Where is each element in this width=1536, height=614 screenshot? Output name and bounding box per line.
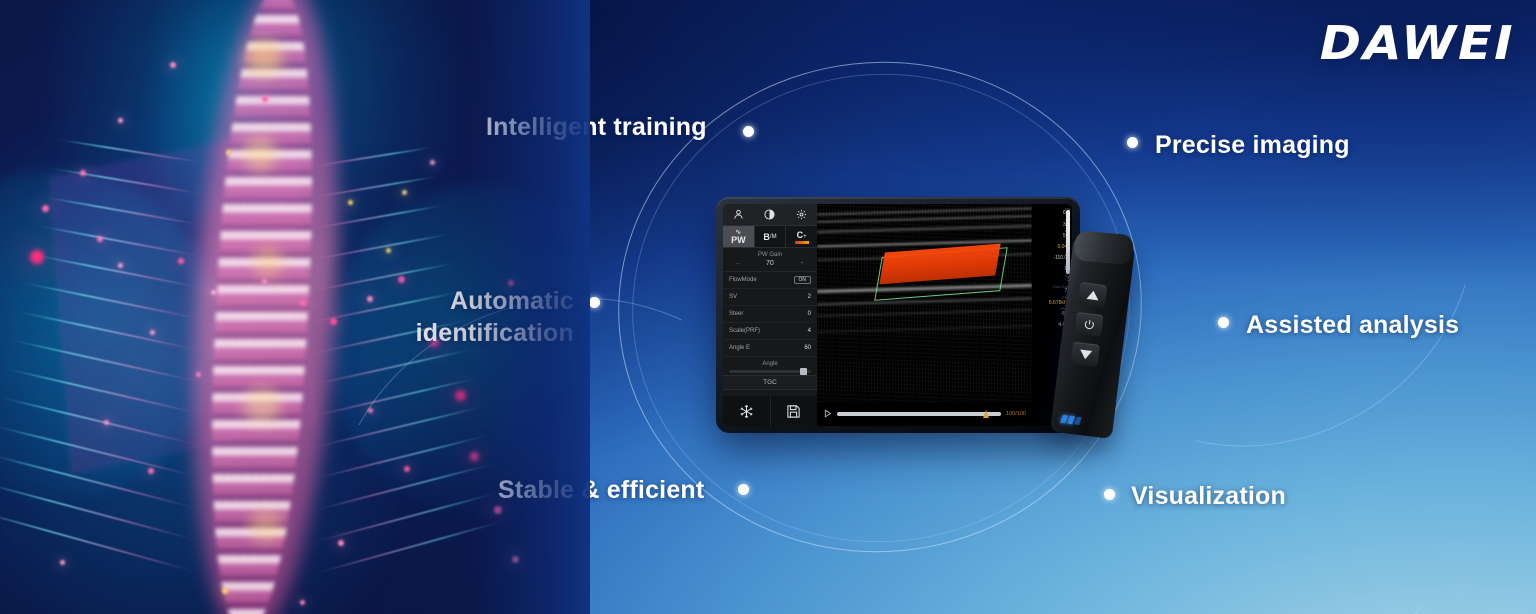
param-label: Scale(PRF) (729, 328, 760, 334)
param-value: 2 (808, 294, 811, 300)
illustration-edge-fade (0, 0, 590, 614)
measurement-row: MI0.045 (1034, 240, 1070, 250)
param-value: 4 (808, 328, 811, 334)
feature-dot-intelligent-training (743, 126, 754, 137)
gear-icon[interactable] (796, 209, 807, 220)
param-label: Steer (729, 311, 743, 317)
panel-action-bar (723, 396, 817, 426)
feature-dot-automatic-identification (589, 297, 600, 308)
measurement-row: Vel-110.08 (1034, 252, 1070, 262)
angle-slider-label: Angle (729, 361, 811, 367)
param-label: FlowMode (729, 277, 757, 283)
ultrasound-image (817, 204, 1032, 402)
frame-counter: 100/100 (1006, 411, 1026, 417)
measurement-row: Dop Gain70 (1034, 285, 1070, 295)
feature-dot-stable-efficient (738, 484, 749, 495)
gain-minus-button[interactable]: – (736, 261, 739, 267)
mode-label-plus: + (803, 234, 807, 240)
angle-slider-knob[interactable] (800, 368, 807, 375)
param-row-scale-prf[interactable]: Scale(PRF) 4 (723, 323, 817, 340)
panel-toolbar (723, 204, 817, 226)
measurement-row: cm3.6 (1034, 218, 1070, 228)
param-value: 60 (804, 345, 811, 351)
down-arrow-icon[interactable] (1070, 342, 1099, 367)
feature-label-visualization: Visualization (1131, 482, 1286, 511)
banner-stage: DAWEI Intelligent training Precise imagi… (0, 0, 1536, 614)
depth-slider[interactable] (1066, 210, 1070, 274)
mode-label-pw: PW (731, 236, 746, 245)
control-panel: ∿ PW B/M C+ PW Gain (723, 204, 817, 426)
color-scale-icon (795, 241, 809, 244)
spine-illustration (0, 0, 590, 614)
feature-label-precise-imaging: Precise imaging (1155, 131, 1350, 160)
param-row-flowmode[interactable]: FlowMode ON (723, 272, 817, 289)
measurement-row: dB80 (1034, 263, 1070, 273)
param-row-steer[interactable]: Steer 0 (723, 306, 817, 323)
param-row-angle-e[interactable]: Angle E 60 (723, 340, 817, 357)
param-label: Angle E (729, 345, 750, 351)
save-floppy-icon[interactable] (771, 396, 818, 426)
measurement-row: cm5.6 (1034, 229, 1070, 239)
mode-button-cplus[interactable]: C+ (786, 226, 817, 247)
play-icon[interactable] (823, 405, 832, 423)
contrast-icon[interactable] (764, 209, 775, 220)
gain-title: PW Gain (723, 248, 817, 260)
feature-dot-precise-imaging (1127, 137, 1138, 148)
angle-slider-group: Angle (723, 357, 817, 375)
brand-logo: DAWEI (1320, 16, 1515, 70)
power-icon[interactable] (1074, 312, 1103, 337)
param-label: SV (729, 294, 737, 300)
mode-button-pw[interactable]: ∿ PW (723, 226, 755, 247)
playback-progress[interactable] (837, 412, 1001, 416)
probe-head (1074, 230, 1134, 265)
angle-slider-track[interactable] (729, 370, 811, 373)
gain-stepper: – 70 + (723, 260, 817, 272)
gain-value: 70 (766, 260, 774, 267)
mode-buttons: ∿ PW B/M C+ (723, 226, 817, 248)
ultrasound-tablet: ∿ PW B/M C+ PW Gain (716, 197, 1080, 433)
param-value[interactable]: ON (794, 276, 812, 284)
feature-dot-visualization (1104, 489, 1115, 500)
playback-marker[interactable] (983, 410, 989, 418)
feature-dot-assisted-analysis (1218, 317, 1229, 328)
tablet-screen: ∿ PW B/M C+ PW Gain (723, 204, 1072, 426)
patient-icon[interactable] (733, 209, 744, 220)
gain-plus-button[interactable]: + (800, 261, 804, 267)
param-row-sv[interactable]: SV 2 (723, 289, 817, 306)
mode-button-bm[interactable]: B/M (755, 226, 787, 247)
playback-bar: 100/100 (817, 402, 1032, 426)
tgc-button[interactable]: TGC (723, 375, 817, 390)
mode-label-m: /M (770, 234, 777, 240)
measurement-row: SV3 (1034, 274, 1070, 284)
ultrasound-viewport[interactable]: 100/100 (817, 204, 1032, 426)
measurement-row: cm6.7 (1034, 207, 1070, 217)
feature-label-assisted-analysis: Assisted analysis (1246, 311, 1459, 340)
freeze-snowflake-icon[interactable] (723, 396, 771, 426)
param-value: 0 (808, 311, 811, 317)
up-arrow-icon[interactable] (1078, 282, 1107, 307)
ultrasound-speckle (817, 204, 1032, 402)
